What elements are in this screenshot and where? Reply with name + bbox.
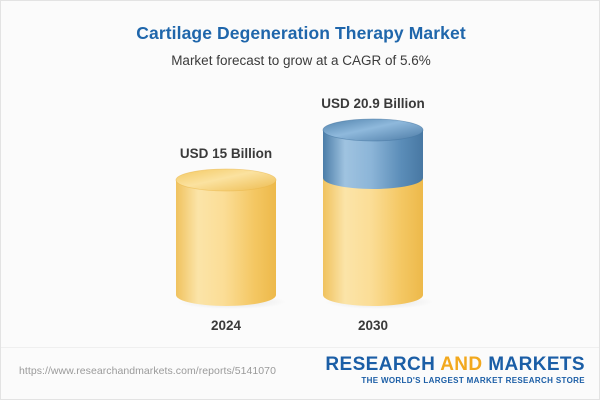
category-label-2030: 2030 [273, 318, 473, 333]
research-and-markets-logo: RESEARCH AND MARKETS THE WORLD'S LARGEST… [325, 354, 585, 387]
value-label-2024: USD 15 Billion [126, 146, 326, 161]
plot-region: USD 15 Billion [1, 1, 600, 349]
cylinder-bar-2024 [176, 169, 276, 309]
footer: https://www.researchandmarkets.com/repor… [1, 347, 600, 399]
chart-area: Cartilage Degeneration Therapy Market Ma… [1, 1, 600, 349]
logo-word-markets: MARKETS [488, 354, 585, 375]
logo-tagline: THE WORLD'S LARGEST MARKET RESEARCH STOR… [325, 375, 585, 387]
logo-wordmark: RESEARCH AND MARKETS [325, 354, 585, 375]
report-url[interactable]: https://www.researchandmarkets.com/repor… [19, 365, 276, 377]
market-forecast-infographic: Cartilage Degeneration Therapy Market Ma… [0, 0, 600, 400]
logo-word-research: RESEARCH [325, 354, 435, 375]
value-label-2030: USD 20.9 Billion [273, 96, 473, 111]
logo-word-and: AND [440, 354, 482, 375]
cylinder-bar-2030 [323, 119, 423, 309]
